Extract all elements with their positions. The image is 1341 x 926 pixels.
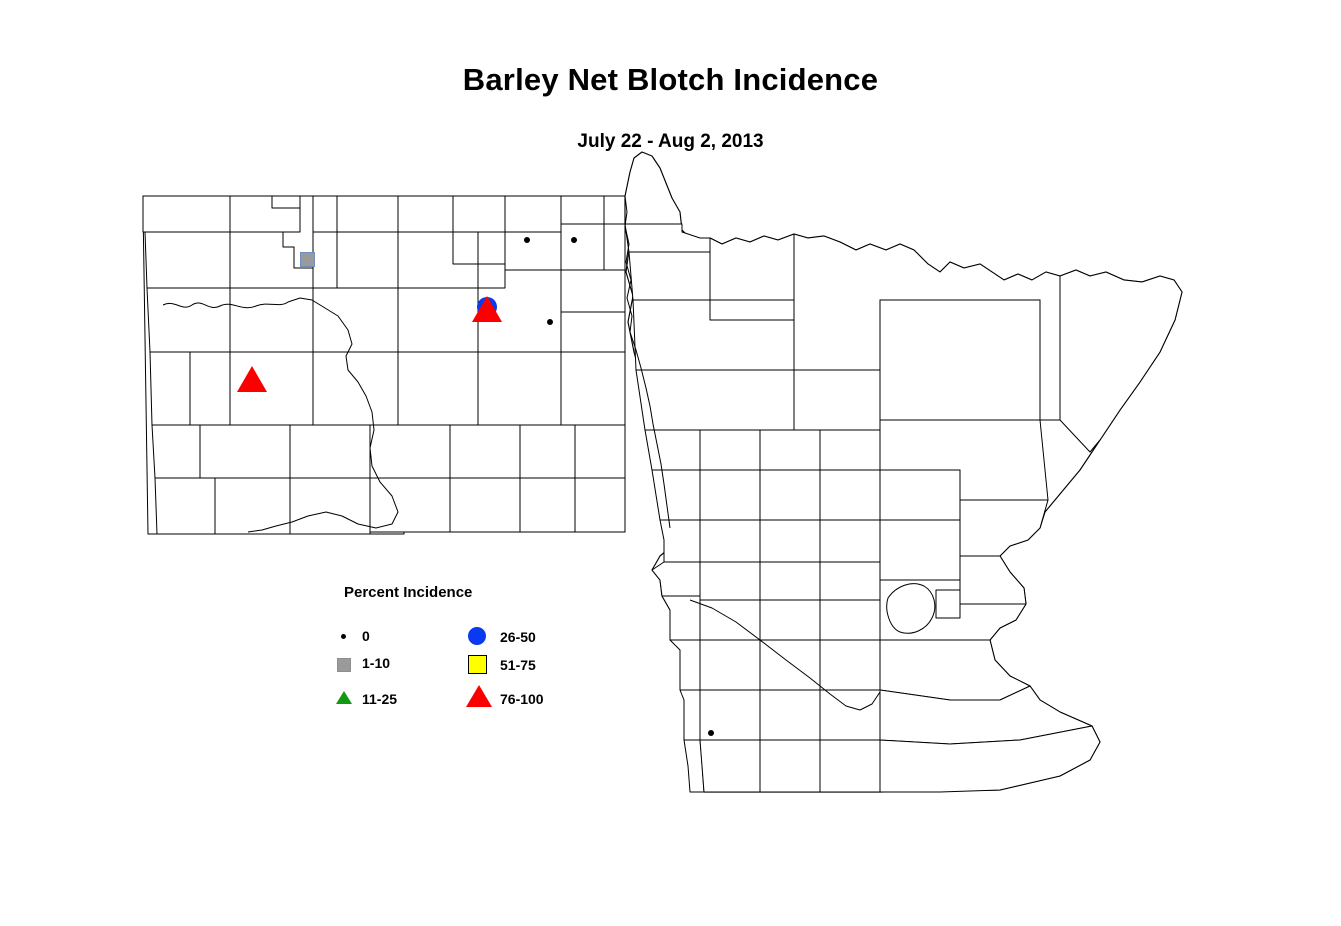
marker-red-triangle-76-100-north[interactable]: [472, 296, 502, 322]
legend-label-0: 0: [362, 628, 370, 644]
legend-label-1-10: 1-10: [362, 655, 390, 671]
marker-red-triangle-76-100-west[interactable]: [237, 366, 267, 392]
legend: Percent Incidence 0 1-10 11-25 26-50 51-…: [330, 580, 590, 720]
legend-red-triangle-icon: [466, 685, 492, 707]
minnesota-counties: [625, 152, 1182, 792]
legend-blue-circle-icon: [468, 627, 486, 645]
marker-dot-zero-3[interactable]: [547, 319, 553, 325]
legend-label-51-75: 51-75: [500, 657, 536, 673]
legend-label-76-100: 76-100: [500, 691, 544, 707]
legend-gray-square-icon: [337, 658, 351, 672]
north-dakota-counties: [143, 196, 625, 534]
states-map-svg: [0, 0, 1341, 926]
marker-dot-zero-4[interactable]: [708, 730, 714, 736]
legend-label-26-50: 26-50: [500, 629, 536, 645]
legend-title: Percent Incidence: [344, 584, 472, 601]
legend-label-11-25: 11-25: [362, 691, 397, 707]
legend-green-triangle-icon: [336, 691, 352, 704]
marker-gray-square-1-10[interactable]: [300, 252, 315, 267]
marker-dot-zero-1[interactable]: [524, 237, 530, 243]
map-canvas: [0, 0, 1341, 926]
map-page: Barley Net Blotch Incidence July 22 - Au…: [0, 0, 1341, 926]
legend-small-black-dot-icon: [341, 634, 346, 639]
marker-dot-zero-2[interactable]: [571, 237, 577, 243]
legend-yellow-square-icon: [468, 655, 487, 674]
